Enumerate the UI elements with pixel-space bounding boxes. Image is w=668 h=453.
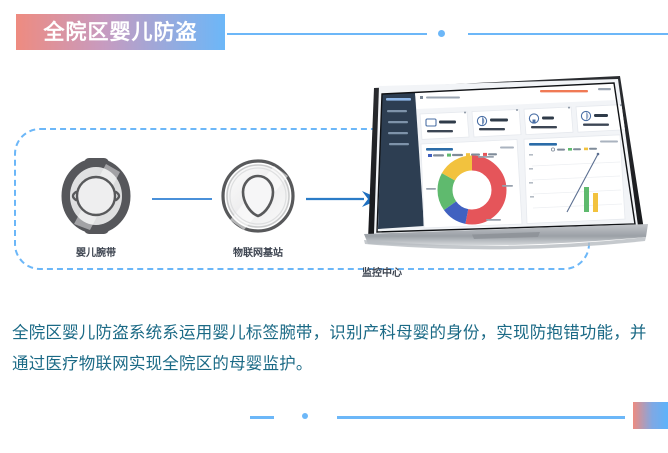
smartwatch-icon — [44, 158, 148, 234]
laptop-icon — [362, 74, 650, 254]
footer-divider-right-icon — [337, 416, 625, 419]
iot-base-station-icon — [200, 158, 316, 234]
diagram-node-monitoring-center-label: 监控中心 — [362, 264, 650, 279]
description-paragraph: 全院区婴儿防盗系统系运用婴儿标签腕带，识别产科母婴的身份，实现防抱错功能，并通过… — [12, 318, 658, 380]
diagram-node-wristband: 婴儿腕带 — [44, 158, 148, 259]
slide-canvas: 全院区婴儿防盗 — [0, 0, 668, 453]
page-title: 全院区婴儿防盗 — [44, 22, 198, 43]
sidebar-brand-bar — [386, 98, 411, 101]
diagram-node-wristband-label: 婴儿腕带 — [44, 244, 148, 259]
diagram-node-base-station-label: 物联网基站 — [200, 244, 316, 259]
footer-divider-left-icon — [250, 416, 274, 419]
footer-gradient-block-icon — [633, 402, 668, 429]
page-title-badge: 全院区婴儿防盗 — [16, 14, 225, 50]
title-dot-icon — [438, 30, 445, 37]
diagram-node-monitoring-center: 监控中心 — [362, 74, 650, 254]
footer-dot-icon — [302, 413, 308, 419]
title-divider-left-icon — [227, 33, 427, 35]
diagram-node-base-station: 物联网基站 — [200, 158, 316, 259]
title-divider-right-icon — [468, 33, 668, 35]
